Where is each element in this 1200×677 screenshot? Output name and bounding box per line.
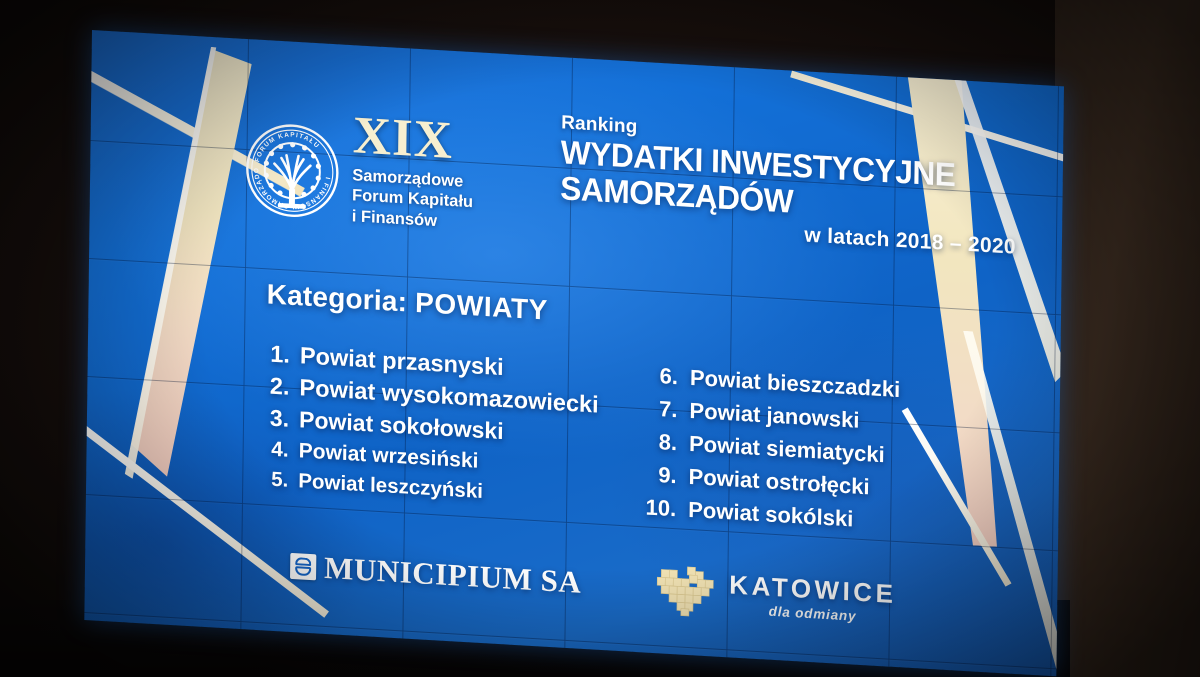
edition-block: XIX Samorządowe Forum Kapitału i Finansó… [352,110,544,237]
title-block: Ranking WYDATKI INWESTYCYJNE SAMORZĄDÓW … [560,112,1032,261]
category-value: POWIATY [415,287,548,326]
slide-footer: MUNICIPIUM SA [235,539,1036,655]
rank-number: 6. [638,362,678,390]
ranking-lists: 1. Powiat przasnyski 2. Powiat wysokomaz… [238,339,1028,385]
forum-seal-logo: FORUM KAPITAŁU I FINANSÓW SAMORZĄDOWE [240,116,345,226]
led-screen-wrapper: FORUM KAPITAŁU I FINANSÓW SAMORZĄDOWE [0,0,1200,677]
rank-number: 8. [637,428,677,456]
municipium-emblem-icon [290,553,316,581]
photo-of-led-video-wall: FORUM KAPITAŁU I FINANSÓW SAMORZĄDOWE [0,0,1200,677]
rank-number: 7. [637,395,677,423]
municipium-wordmark: MUNICIPIUM SA [324,550,582,601]
rank-name: Powiat bieszczadzki [690,365,901,403]
ranking-column-left: 1. Powiat przasnyski 2. Powiat wysokomaz… [254,340,636,513]
rank-name: Powiat sokólski [688,497,853,533]
rank-number: 10. [636,494,676,522]
edition-number: XIX [353,110,544,171]
rank-number: 2. [255,372,289,401]
rank-number: 1. [256,340,290,369]
rank-name: Powiat wrzesiński [299,439,479,473]
organisation-name: Samorządowe Forum Kapitału i Finansów [352,166,543,237]
rank-number: 3. [255,404,289,433]
katowice-wordmark: KATOWICE [729,571,896,607]
led-screen: FORUM KAPITAŁU I FINANSÓW SAMORZĄDOWE [84,30,1064,676]
rank-number: 9. [636,461,676,489]
rank-name: Powiat siemiatycki [689,431,885,468]
katowice-pixel-heart-icon [655,563,718,619]
rank-number: 4. [255,437,289,463]
rank-name: Powiat ostrołęcki [688,464,869,500]
category-label: Kategoria: [267,278,408,317]
katowice-logo: KATOWICE dla odmiany [655,563,897,629]
rank-name: Powiat janowski [689,398,859,434]
rank-name: Powiat sokołowski [299,406,504,445]
slide-content: FORUM KAPITAŁU I FINANSÓW SAMORZĄDOWE [84,30,1064,676]
rank-name: Powiat leszczyński [298,469,483,504]
municipium-logo: MUNICIPIUM SA [290,548,582,601]
ranking-column-right: 6. Powiat bieszczadzki 7. Powiat janowsk… [636,362,1018,549]
rank-number: 5. [254,467,288,493]
category-line: Kategoria: POWIATY [266,278,548,326]
katowice-text-block: KATOWICE dla odmiany [729,571,897,626]
slide-header: FORUM KAPITAŁU I FINANSÓW SAMORZĄDOWE [239,94,1041,290]
